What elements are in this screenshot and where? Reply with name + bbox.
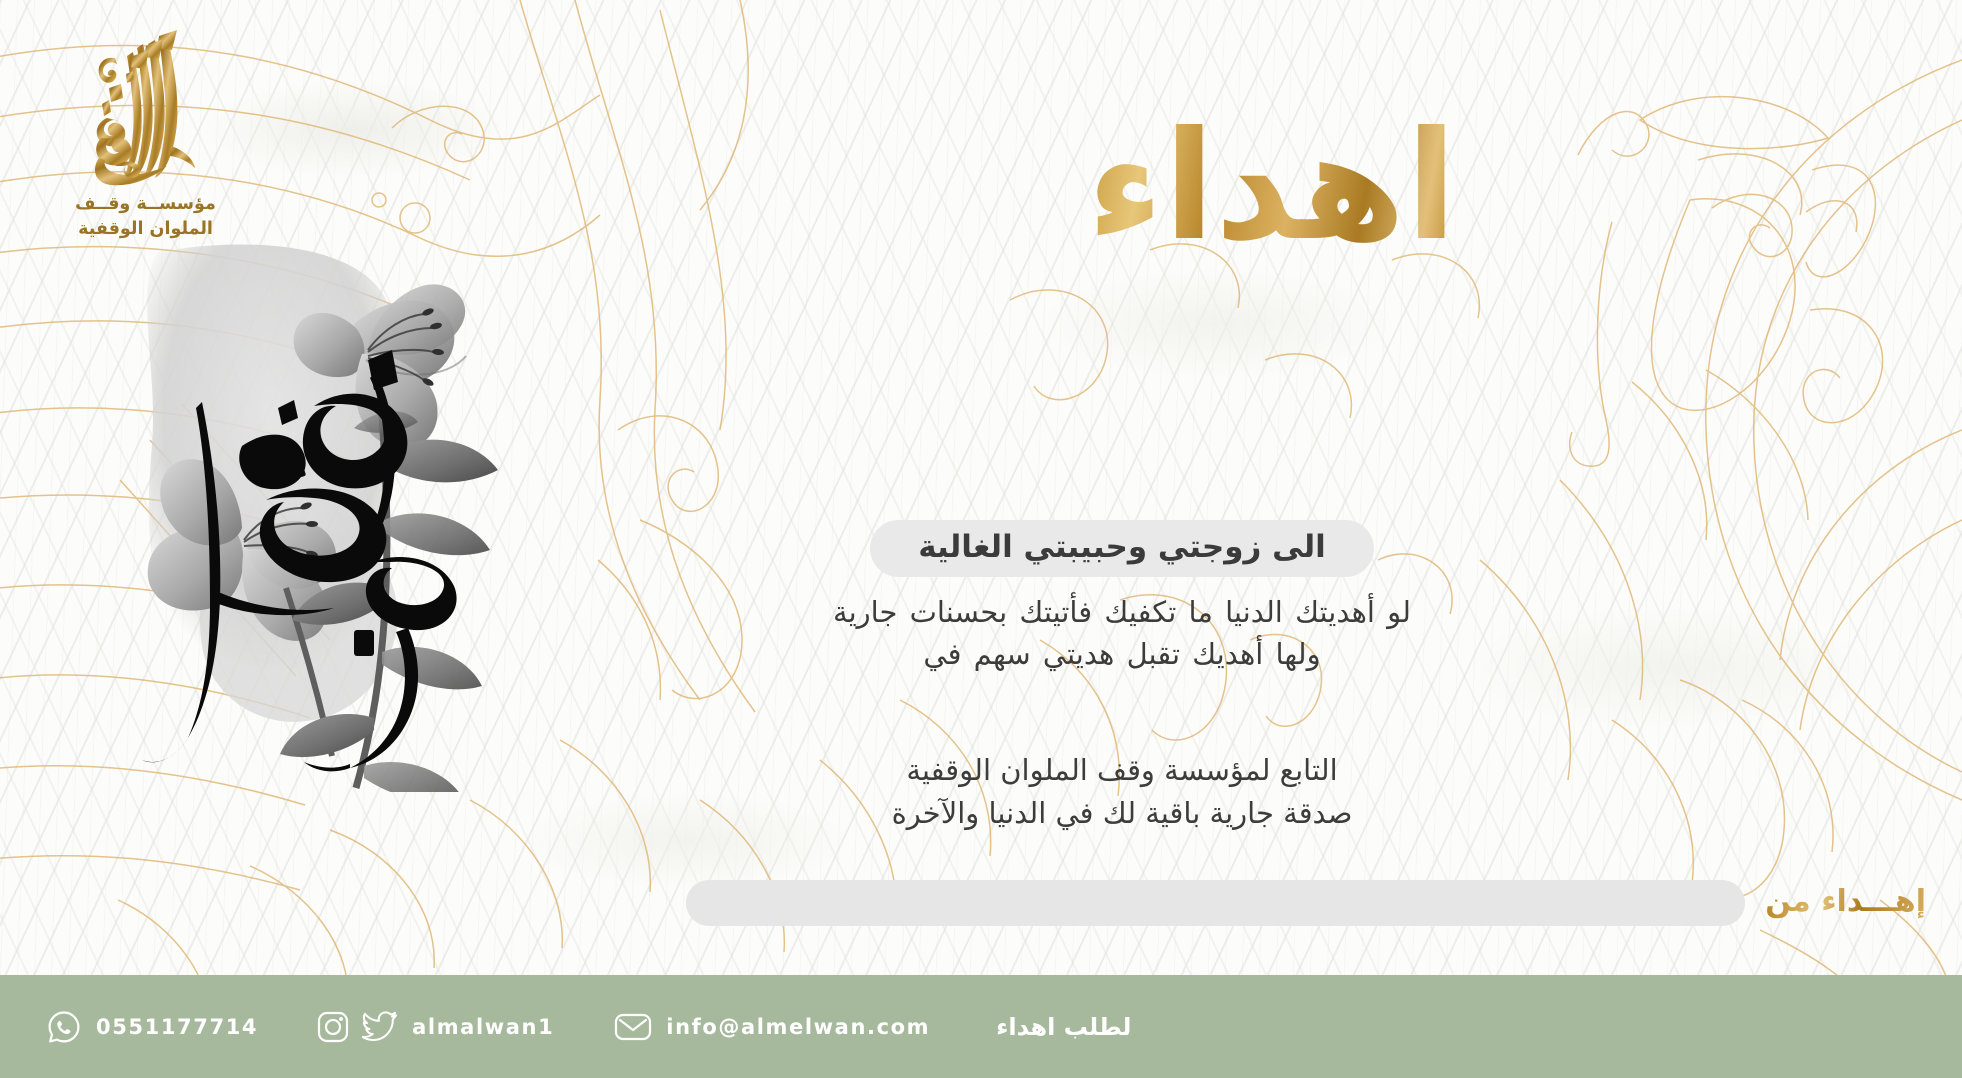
instagram-icon	[316, 1010, 350, 1044]
brand-name-line1: مؤسســة وقــف	[38, 192, 253, 217]
page-title: اهداء	[1087, 112, 1457, 262]
footer-phone-number: 0551177714	[96, 1015, 258, 1039]
footer-social-handle: almalwan1	[412, 1015, 554, 1039]
message-line-4: صدقة جارية باقية لك في الدنيا والآخرة	[682, 792, 1562, 835]
contact-footer: 0551177714 almalwan1 info@almelwan.com	[0, 975, 1962, 1078]
twitter-bird-icon	[362, 1011, 398, 1043]
footer-email-address: info@almelwan.com	[666, 1015, 930, 1039]
brand-name: مؤسســة وقــف الملوان الوقفية	[38, 192, 253, 242]
message-line-3: التابع لمؤسسة وقف الملوان الوقفية	[682, 749, 1562, 792]
dedication-from-label: إهـــداء من	[1765, 884, 1926, 923]
footer-email-item[interactable]: info@almelwan.com	[614, 1012, 930, 1042]
message-paragraph-2: التابع لمؤسسة وقف الملوان الوقفية صدقة ج…	[682, 749, 1562, 834]
message-paragraph-1: لو أهديتك الدنيا ما تكفيك فأتيتك بحسنات …	[682, 591, 1562, 675]
dedication-from-row: إهـــداء من	[686, 880, 1926, 926]
artwork-lily-calligraphy	[118, 232, 538, 792]
message-line-2: ولها أهديك تقبل هديتي سهم في	[682, 633, 1562, 675]
dedication-card: مؤسســة وقــف الملوان الوقفية اهداء	[0, 0, 1962, 1078]
message-line-1: لو أهديتك الدنيا ما تكفيك فأتيتك بحسنات …	[682, 591, 1562, 633]
brand-logo-block: مؤسســة وقــف الملوان الوقفية	[38, 26, 253, 242]
footer-phone-item[interactable]: 0551177714	[46, 1009, 258, 1045]
arabic-calligraphy-logo-icon	[71, 26, 221, 186]
whatsapp-icon	[46, 1009, 82, 1045]
footer-order-text: لطلب اهداء	[996, 1013, 1131, 1041]
footer-instagram-item[interactable]	[316, 1010, 350, 1044]
recipient-badge: الى زوجتي وحبيبتي الغالية	[870, 520, 1374, 577]
dedication-content: الى زوجتي وحبيبتي الغالية لو أهديتك الدن…	[682, 520, 1562, 834]
brand-name-line2: الملوان الوقفية	[38, 217, 253, 242]
dedication-from-input[interactable]	[686, 880, 1745, 926]
footer-twitter-item[interactable]: almalwan1	[362, 1011, 554, 1043]
envelope-icon	[614, 1012, 652, 1042]
